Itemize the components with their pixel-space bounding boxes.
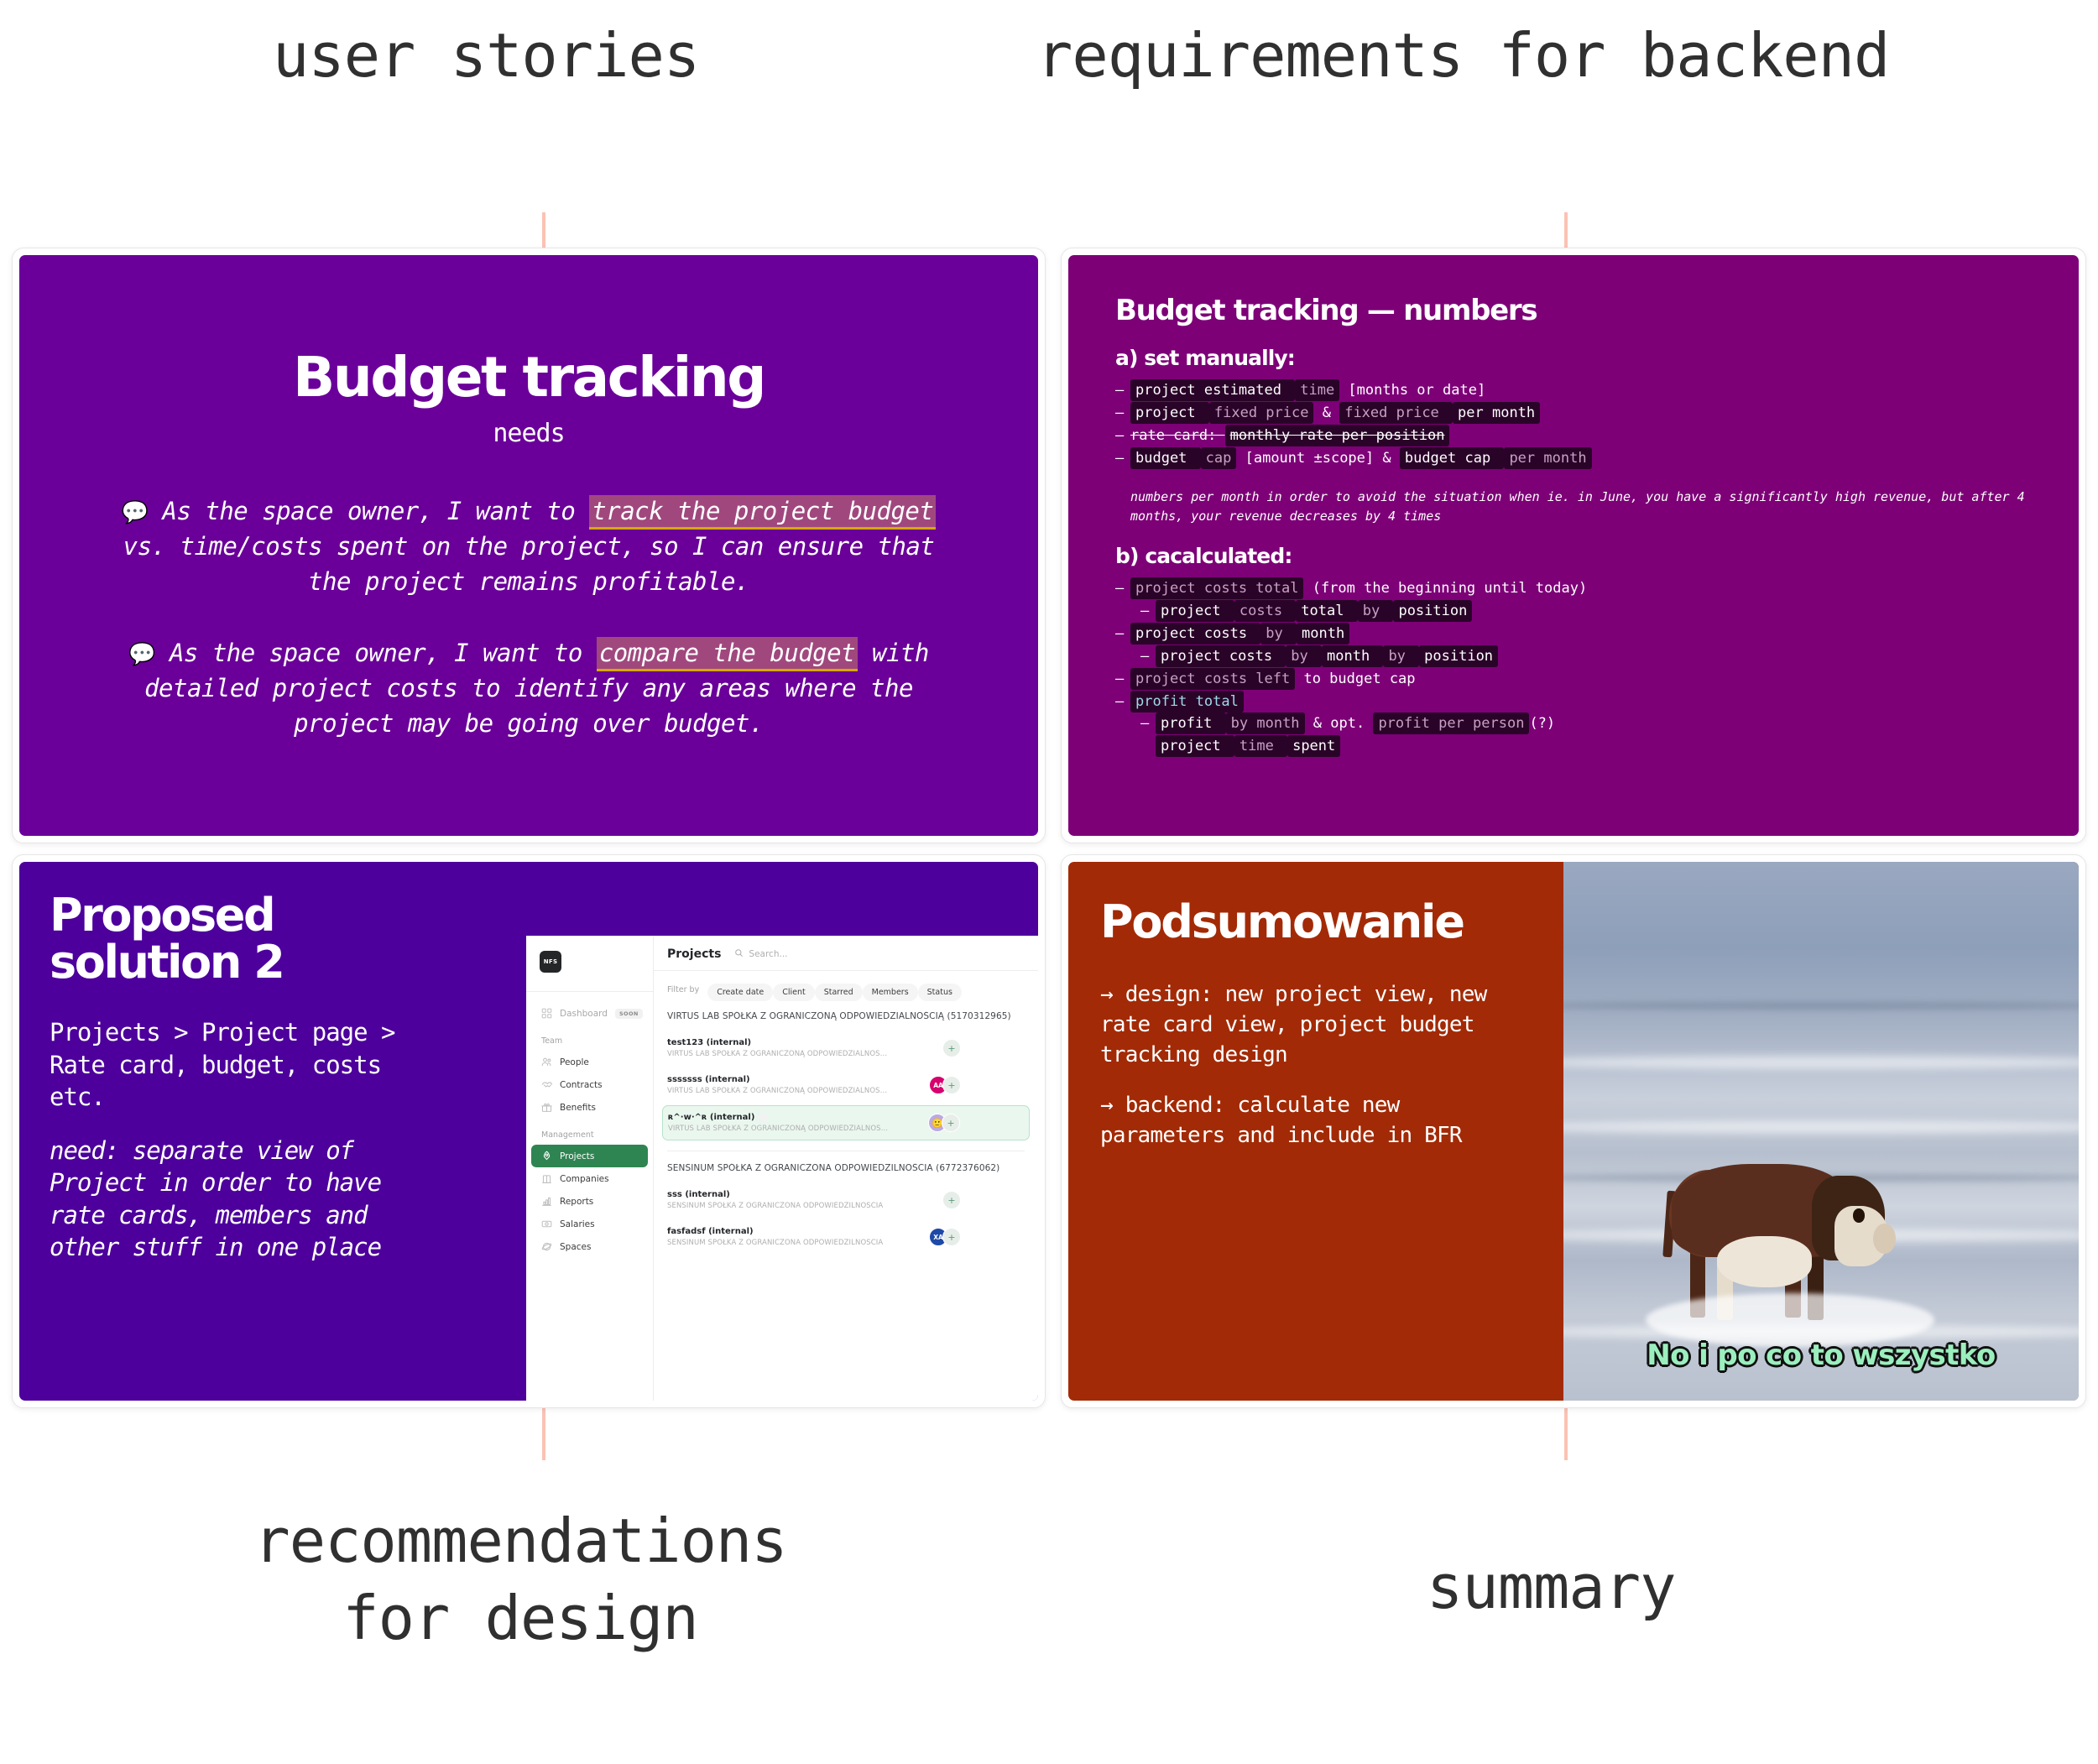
code-token: (?) [1529,715,1555,732]
project-row[interactable]: fasfadsf (internal)SENSINUM SPÓŁKA Z OGR… [662,1220,1030,1254]
section-b-heading: b) cacalculated: [1115,544,2032,568]
code-token: total [1296,600,1357,622]
section-a-heading: a) set manually: [1115,346,2032,370]
bullet-dash: — [1115,695,1130,710]
requirement-line: —rate card: monthly rate per position [1115,429,2032,444]
requirement-line: —project costs by month [1115,627,2032,642]
slide-card-summary[interactable]: Podsumowanie → design: new project view,… [1061,854,2086,1408]
code-token: & [1313,404,1339,421]
code-token: by [1260,623,1297,645]
code-token: time [1234,735,1287,757]
sidebar-item-dashboard[interactable]: Dashboard SOON [531,1002,648,1025]
code-token: position [1393,600,1472,622]
slide-2-title: Budget tracking — numbers [1115,294,2032,327]
slide-4-body: Podsumowanie → design: new project view,… [1068,862,2079,1401]
sidebar-item-companies[interactable]: Companies [531,1167,648,1190]
section-b-list: —project costs total (from the beginning… [1115,582,2032,754]
code-token: to budget cap [1295,671,1415,687]
project-name: sss (internal) [667,1190,883,1199]
project-company: VIRTUS LAB SPÓŁKA Z OGRANICZONĄ ODPOWIED… [667,1087,887,1095]
slide-3-text-column: Proposed solution 2 Projects > Project p… [50,892,419,1285]
slide-1-body: Budget tracking needs 💬 As the space own… [19,255,1038,836]
filter-chip-client[interactable]: Client [773,984,815,1001]
project-row[interactable]: sssssss (internal)VIRTUS LAB SPÓŁKA Z OG… [662,1068,1030,1102]
sidebar-item-salaries[interactable]: Salaries [531,1213,648,1235]
app-page-title: Projects [667,947,721,961]
requirement-line: —project fixed price & fixed price per m… [1115,406,2032,421]
slide-4-title: Podsumowanie [1100,895,1532,948]
code-token: by [1286,645,1322,667]
annotation-recommendations-design: recommendations for design [189,1502,852,1657]
sidebar-group-title: Team [526,1025,653,1051]
code-token: project [1156,735,1234,757]
filter-bar: Filter by Create dateClientStarredMember… [667,982,1025,998]
project-name: test123 (internal) [667,1038,887,1047]
soon-badge: SOON [615,1009,643,1019]
code-token: costs [1234,600,1296,622]
filter-chip-create-date[interactable]: Create date [707,984,773,1001]
project-info: sssssss (internal)VIRTUS LAB SPÓŁKA Z OG… [667,1075,887,1095]
building-icon [541,1173,552,1184]
requirement-line: project time spent [1115,739,2032,754]
sidebar-item-people[interactable]: People [531,1051,648,1073]
people-icon [541,1057,552,1067]
code-token: [amount ±scope] & [1236,450,1399,467]
code-token: profit [1156,712,1226,734]
search-icon [734,948,744,960]
app-main-content: Projects Search... [654,936,1038,1401]
code-token: budget cap [1400,447,1505,469]
project-company: SENSINUM SPÓŁKA Z OGRANICZONA ODPOWIEDZI… [667,1202,883,1210]
add-member-button[interactable]: + [942,1228,961,1246]
code-token: spent [1287,735,1340,757]
star-icon[interactable] [759,1113,768,1122]
sidebar-item-label: Reports [560,1197,593,1207]
wave-line [1563,1002,2079,1010]
code-token: project [1156,600,1234,622]
speech-bubble-icon: 💬 [128,642,155,667]
project-row[interactable]: ʀ^·ᴡ·^ʀ (internal)VIRTUS LAB SPÓŁKA Z OG… [662,1105,1030,1140]
project-members: AA+ [929,1076,961,1094]
code-token: project costs [1130,623,1260,645]
money-icon [541,1219,552,1229]
slide-1-subtitle: needs [493,419,564,448]
slide-card-backend-requirements[interactable]: Budget tracking — numbers a) set manuall… [1061,248,2086,843]
code-token: & opt. [1305,715,1374,732]
filter-chip-members[interactable]: Members [863,984,918,1001]
code-token: rate card: [1130,427,1225,444]
project-info: test123 (internal)VIRTUS LAB SPÓŁKA Z OG… [667,1038,887,1058]
sidebar-item-label: Companies [560,1174,609,1184]
requirement-line: —project costs left to budget cap [1115,672,2032,687]
slide-3-need-note: need: separate view of Project in order … [50,1135,419,1263]
slide-4-inner: Podsumowanie → design: new project view,… [1068,862,2079,1401]
handshake-icon [541,1079,552,1090]
project-members: + [947,1191,961,1209]
project-members: 🙂+ [928,1114,960,1132]
sidebar-item-contracts[interactable]: Contracts [531,1073,648,1096]
code-token: project estimated [1130,379,1295,401]
code-token: position [1419,645,1498,667]
app-header: Projects Search... [667,947,1025,970]
add-member-button[interactable]: + [942,1039,961,1057]
code-token: time [1295,379,1339,401]
code-token: profit total [1130,691,1244,712]
code-token: month [1297,623,1349,645]
code-token: project costs left [1130,668,1295,690]
sidebar-group-title: Management [526,1119,653,1145]
project-name: fasfadsf (internal) [667,1227,883,1236]
user-story-1-pre: As the space owner, I want to [163,497,590,525]
slide-2-inner: Budget tracking — numbers a) set manuall… [1068,255,2079,836]
code-token: by [1358,600,1394,622]
requirement-line: —project costs by month by position [1115,650,2032,665]
bullet-dash: — [1115,384,1130,399]
search-placeholder: Search... [749,949,787,959]
requirement-line: —profit by month & opt. profit per perso… [1115,717,2032,732]
bullet-dash: — [1115,451,1130,467]
user-story-1-highlight: track the project budget [589,495,936,530]
embedded-app-screenshot: NFS Dashboard SOON [526,936,1038,1401]
code-token: fixed price [1209,402,1314,424]
bullet-dash: — [1140,717,1156,732]
sidebar-item-benefits[interactable]: Benefits [531,1096,648,1119]
rocket-icon [541,1151,552,1161]
add-member-button[interactable]: + [942,1114,960,1132]
user-story-2-pre: As the space owner, I want to [170,639,597,667]
slide-1-title: Budget tracking [293,350,765,405]
slide-3-inner: Proposed solution 2 Projects > Project p… [19,862,1038,1401]
section-a-list: —project estimated time [months or date]… [1115,384,2032,466]
bullet-dash: — [1140,604,1156,619]
sidebar-item-spaces[interactable]: Spaces [531,1235,648,1258]
code-token: [months or date] [1339,382,1485,399]
sidebar-item-dashboard-label: Dashboard [560,1009,608,1019]
code-token: per month [1453,402,1540,424]
code-token: monthly rate per position [1225,425,1450,446]
gift-icon [541,1102,552,1113]
bar-chart-icon [541,1196,552,1207]
bullet-dash: — [1115,429,1130,444]
code-token: project [1130,402,1209,424]
annotation-requirements-backend: requirements for backend [1036,17,1889,94]
app-sidebar: NFS Dashboard SOON [526,936,654,1401]
sidebar-item-label: Projects [560,1151,594,1161]
sidebar-item-reports[interactable]: Reports [531,1190,648,1213]
filter-label: Filter by [667,985,699,994]
project-list: VIRTUS LAB SPÓŁKA Z OGRANICZONĄ ODPOWIED… [667,1011,1025,1254]
add-member-button[interactable]: + [942,1076,961,1094]
project-info: ʀ^·ᴡ·^ʀ (internal)VIRTUS LAB SPÓŁKA Z OG… [668,1113,888,1133]
sidebar-item-label: Contracts [560,1080,603,1090]
code-token: by [1383,645,1419,667]
code-token: budget [1130,447,1201,469]
slide-3-breadcrumb: Projects > Project page > Rate card, bud… [50,1016,419,1113]
code-token: project costs total [1130,577,1303,599]
sidebar-nav-groups: TeamPeopleContractsBenefitsManagementPro… [526,1025,653,1258]
company-header: SENSINUM SPÓŁKA Z OGRANICZONA ODPOWIEDZI… [667,1163,1025,1173]
code-token: profit per person [1373,712,1529,734]
bullet-dash: — [1140,650,1156,665]
requirement-line: —profit total [1115,695,2032,710]
project-members: XA+ [929,1228,961,1246]
project-name: ʀ^·ᴡ·^ʀ (internal) [668,1113,888,1122]
sidebar-item-label: Salaries [560,1219,595,1229]
sidebar-divider [526,991,653,992]
company-header: VIRTUS LAB SPÓŁKA Z OGRANICZONĄ ODPOWIED… [667,1011,1025,1021]
header-divider [654,970,1038,971]
code-token: cap [1201,447,1237,469]
sidebar-item-label: Spaces [560,1242,591,1252]
project-info: sss (internal)SENSINUM SPÓŁKA Z OGRANICZ… [667,1190,883,1210]
project-members: + [947,1039,961,1057]
code-token: by month [1226,712,1305,734]
sidebar-item-projects[interactable]: Projects [531,1145,648,1167]
bullet-dash: — [1115,406,1130,421]
annotation-user-stories: user stories [273,17,699,94]
requirement-line: —project estimated time [months or date] [1115,384,2032,399]
project-info: fasfadsf (internal)SENSINUM SPÓŁKA Z OGR… [667,1227,883,1247]
foam-line [1563,1056,2079,1069]
add-member-button[interactable]: + [942,1191,961,1209]
bullet-dash: — [1115,672,1130,687]
sidebar-item-label: People [560,1057,589,1067]
filter-chip-status[interactable]: Status [918,984,962,1001]
sidebar-item-label: Benefits [560,1103,596,1113]
cow-belly [1717,1236,1812,1287]
slide-card-proposed-solution[interactable]: Proposed solution 2 Projects > Project p… [12,854,1046,1408]
cow-muzzle [1873,1224,1896,1254]
cow-eye [1853,1208,1865,1222]
grid-icon [541,1008,552,1019]
code-token: project costs [1156,645,1286,667]
code-token: per month [1504,447,1591,469]
requirement-line: —budget cap [amount ±scope] & budget cap… [1115,451,2032,467]
requirement-line: —project costs total (from the beginning… [1115,582,2032,597]
annotation-summary: summary [1427,1548,1675,1626]
project-company: VIRTUS LAB SPÓŁKA Z OGRANICZONĄ ODPOWIED… [667,1050,887,1058]
bullet-dash: — [1115,627,1130,642]
code-token: month [1322,645,1383,667]
bullet-dash: — [1115,582,1130,597]
app-logo[interactable]: NFS [540,951,561,973]
user-story-2: 💬 As the space owner, I want to compare … [109,635,948,742]
meme-caption: No i po co to wszystko [1563,1339,2079,1372]
list-divider [667,1151,1025,1151]
speech-bubble-icon: 💬 [122,500,149,525]
user-story-1-post: vs. time/costs spent on the project, so … [123,532,935,596]
user-story-2-highlight: compare the budget [597,637,858,671]
whiteboard-canvas: user stories requirements for backend re… [0,0,2098,1764]
planet-icon [541,1241,552,1252]
slide-3-title: Proposed solution 2 [50,892,419,986]
filter-chip-starred[interactable]: Starred [815,984,863,1001]
summary-bullet-backend: → backend: calculate new parameters and … [1100,1091,1532,1151]
slide-4-text-column: Podsumowanie → design: new project view,… [1068,862,1563,1401]
slide-3-body: Proposed solution 2 Projects > Project p… [19,862,1038,1401]
slide-card-user-stories[interactable]: Budget tracking needs 💬 As the space own… [12,248,1046,843]
summary-bullet-design: → design: new project view, new rate car… [1100,980,1532,1071]
slide-2-body: Budget tracking — numbers a) set manuall… [1068,255,2079,836]
project-row[interactable]: sss (internal)SENSINUM SPÓŁKA Z OGRANICZ… [662,1183,1030,1217]
slide-1-inner: Budget tracking needs 💬 As the space own… [19,255,1038,836]
project-company: VIRTUS LAB SPÓŁKA Z OGRANICZONĄ ODPOWIED… [668,1125,888,1133]
project-row[interactable]: test123 (internal)VIRTUS LAB SPÓŁKA Z OG… [662,1031,1030,1065]
search-input[interactable]: Search... [734,948,787,960]
foam-line [1563,1120,2079,1134]
project-name: sssssss (internal) [667,1075,887,1084]
filter-chips: Create dateClientStarredMembersStatus [707,982,962,998]
section-a-note: numbers per month in order to avoid the … [1115,488,2032,525]
cow-figure [1672,1164,1898,1315]
user-story-1: 💬 As the space owner, I want to track th… [109,493,948,600]
cow-ocean-photo: No i po co to wszystko [1563,862,2079,1401]
project-company: SENSINUM SPÓŁKA Z OGRANICZONA ODPOWIEDZI… [667,1239,883,1247]
requirement-line: —project costs total by position [1115,604,2032,619]
code-token: (from the beginning until today) [1303,580,1587,597]
code-token: fixed price [1339,402,1453,424]
